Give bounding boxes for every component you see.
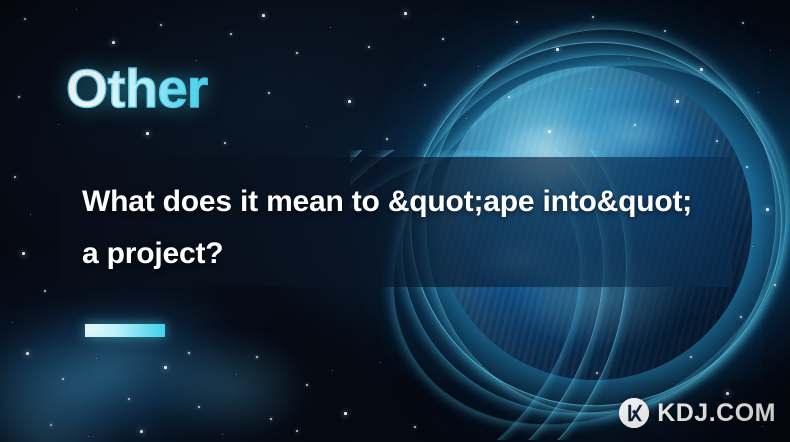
accent-bar bbox=[85, 324, 165, 337]
kdj-logo-icon bbox=[619, 398, 649, 428]
category-title: Other bbox=[66, 62, 208, 116]
article-headline: What does it mean to &quot;ape into&quot… bbox=[82, 176, 702, 280]
logo-wordmark: KDJ.COM bbox=[657, 401, 776, 426]
site-logo[interactable]: KDJ.COM bbox=[619, 398, 776, 428]
article-hero-banner: Other What does it mean to &quot;ape int… bbox=[0, 0, 790, 442]
